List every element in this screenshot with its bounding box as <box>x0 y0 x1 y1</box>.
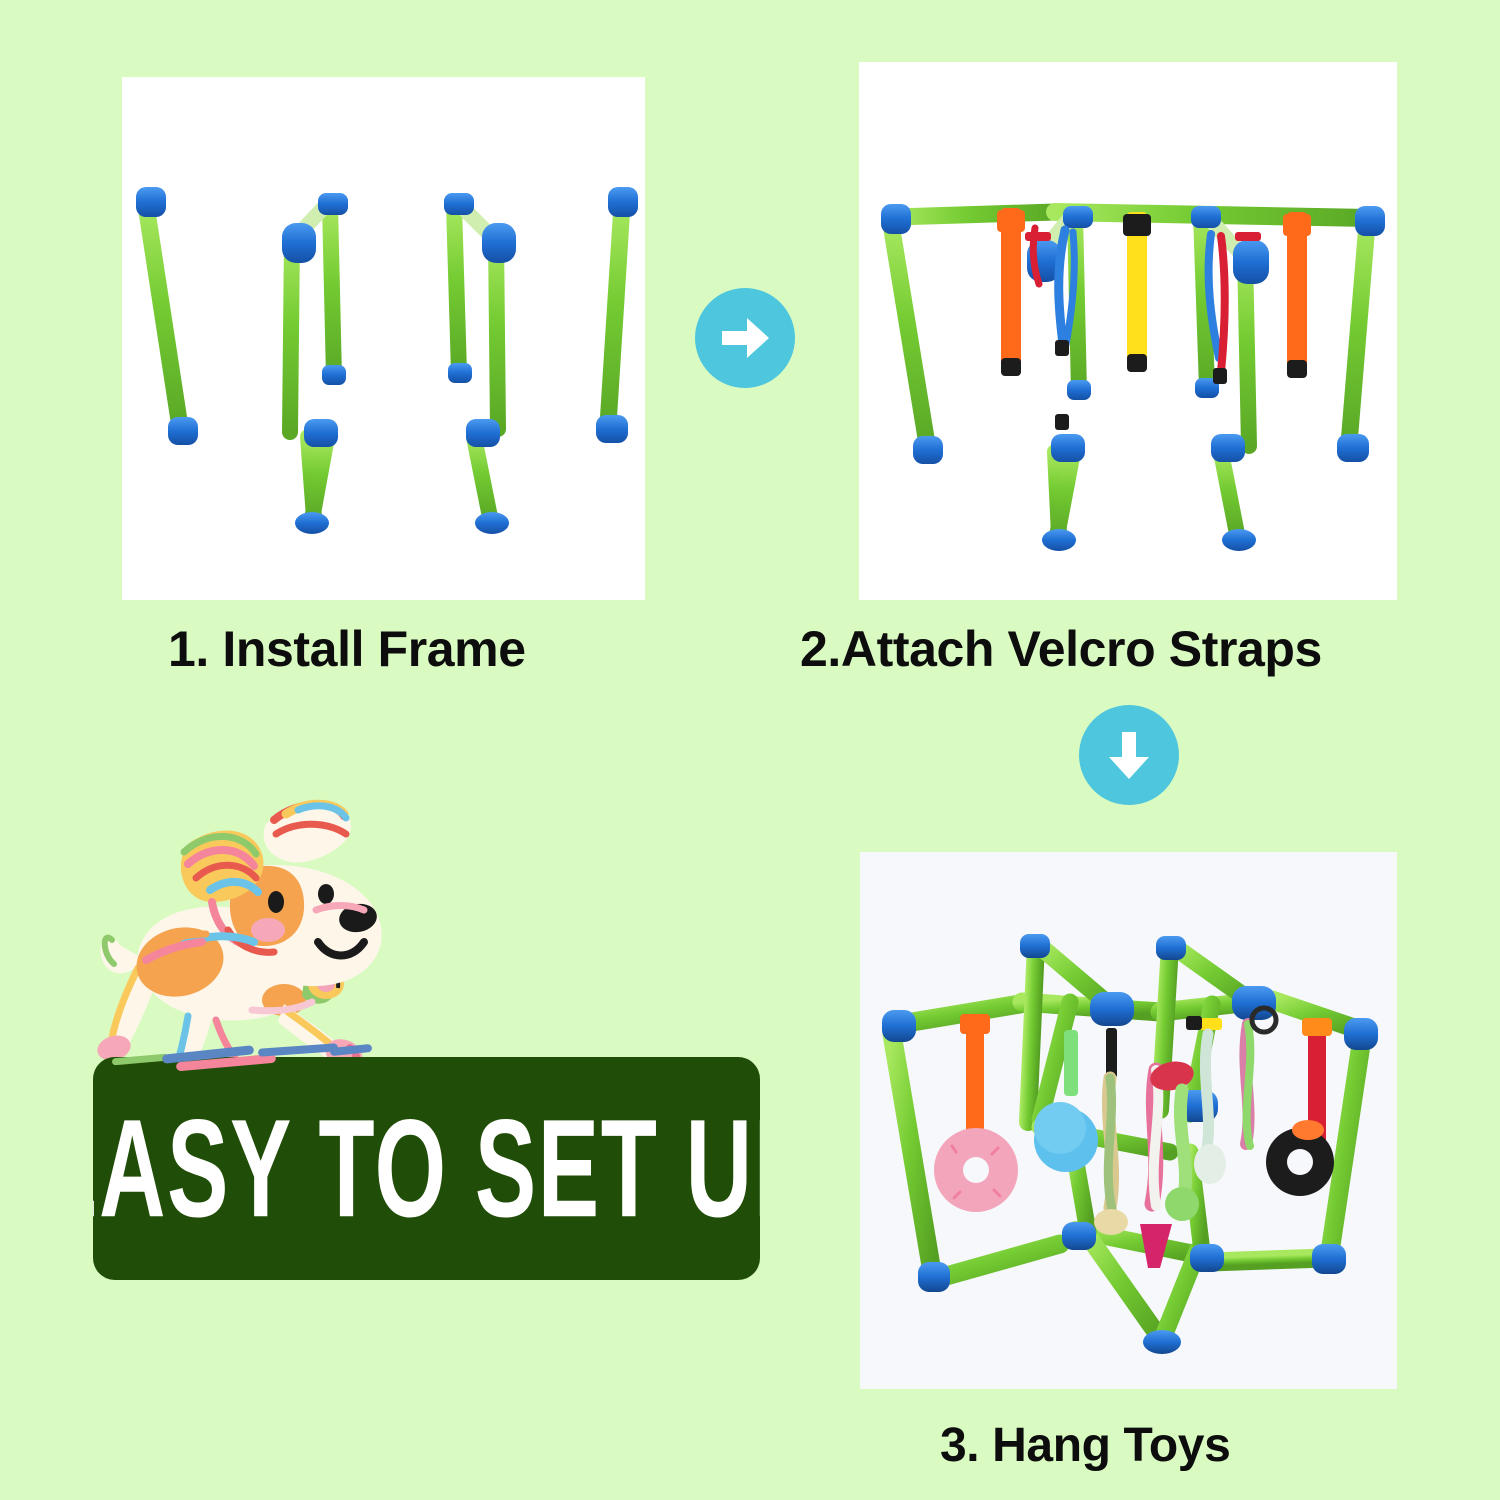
step-3-caption: 3. Hang Toys <box>940 1418 1230 1473</box>
arrow-down-icon <box>1079 705 1179 805</box>
step-1-caption: 1. Install Frame <box>168 620 526 678</box>
frame-with-straps-illustration <box>859 62 1397 600</box>
arrow-right-icon <box>695 288 795 388</box>
frame-illustration-step1 <box>122 77 645 600</box>
running-dog-illustration <box>88 762 428 1092</box>
running-dog-svg <box>88 762 428 1092</box>
infographic-canvas: 1. Install Frame 2.Attach Velcro Straps … <box>0 0 1500 1500</box>
arrow-right-glyph <box>714 307 776 369</box>
step-3-photo <box>860 852 1397 1389</box>
step-1-photo <box>122 77 645 600</box>
arrow-down-glyph <box>1098 724 1160 786</box>
easy-to-set-up-banner: EASY TO SET UP <box>93 1057 760 1280</box>
step-2-photo <box>859 62 1397 600</box>
frame-with-toys-illustration <box>860 852 1397 1389</box>
step-2-caption: 2.Attach Velcro Straps <box>800 620 1322 678</box>
banner-text: EASY TO SET UP <box>93 1099 760 1238</box>
